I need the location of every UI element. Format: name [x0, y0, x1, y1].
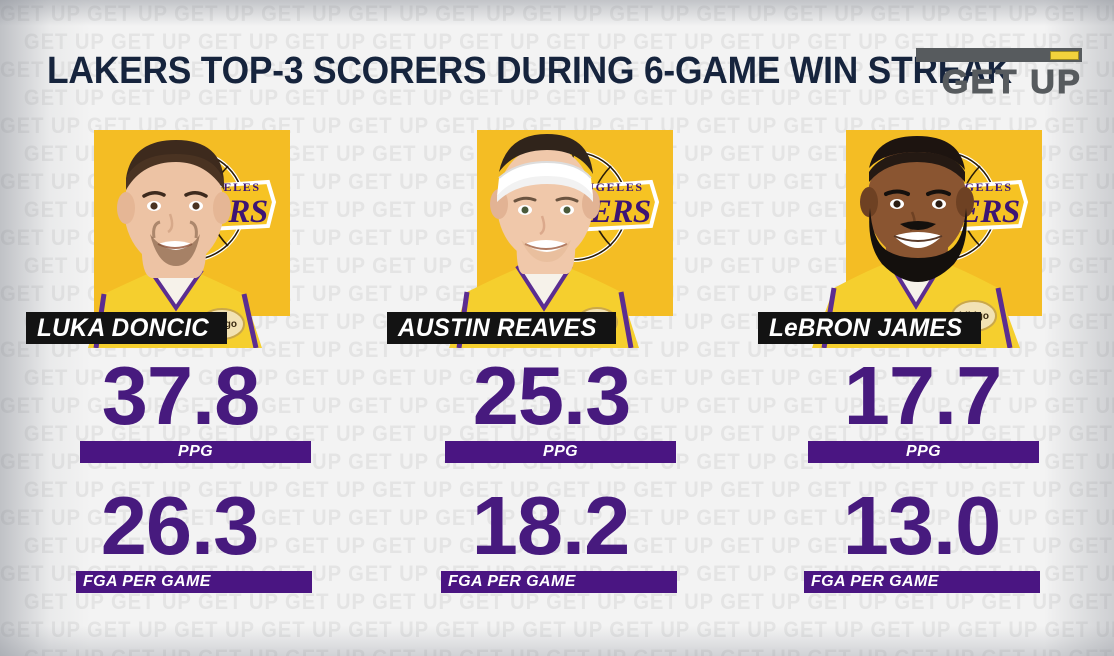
stat-label-fga: FGA PER GAME: [448, 574, 576, 590]
player-columns: LOS ANGELES LAKERS bibigo: [0, 116, 1114, 656]
stat-label-bar-fga: FGA PER GAME: [441, 571, 677, 593]
stat-label-bar-ppg: PPG: [445, 441, 676, 463]
player-column-luka-doncic: LOS ANGELES LAKERS bibigo: [0, 116, 371, 656]
stat-block-ppg: 37.8 PPG: [0, 352, 371, 463]
player-name-plate: LUKA DONCIC: [26, 312, 227, 344]
stat-value-fga: 18.2: [371, 482, 742, 570]
graphic-header: LAKERS TOP-3 SCORERS DURING 6-GAME WIN S…: [0, 44, 1114, 98]
stat-value-ppg: 25.3: [371, 352, 742, 440]
stat-label-bar-ppg: PPG: [80, 441, 311, 463]
stat-value-fga: 26.3: [0, 482, 371, 570]
stat-block-fga: 13.0 FGA PER GAME: [742, 482, 1113, 593]
stat-block-fga: 18.2 FGA PER GAME: [371, 482, 742, 593]
stat-label-fga: FGA PER GAME: [83, 574, 211, 590]
get-up-logo-bar: [916, 48, 1082, 62]
stat-value-ppg: 17.7: [742, 352, 1113, 440]
get-up-logo: GET UP: [916, 48, 1082, 100]
stat-label-ppg: PPG: [906, 444, 941, 460]
stat-block-fga: 26.3 FGA PER GAME: [0, 482, 371, 593]
get-up-logo-accent: [1050, 51, 1079, 60]
player-name-plate: AUSTIN REAVES: [387, 312, 616, 344]
player-name: AUSTIN REAVES: [398, 316, 597, 341]
stat-label-fga: FGA PER GAME: [811, 574, 939, 590]
stat-value-ppg: 37.8: [0, 352, 371, 440]
player-name-plate: LeBRON JAMES: [758, 312, 981, 344]
stat-block-ppg: 25.3 PPG: [371, 352, 742, 463]
stat-label-bar-ppg: PPG: [808, 441, 1039, 463]
player-column-lebron-james: LOS ANGELES LAKERS bibigo: [742, 116, 1113, 656]
stat-label-bar-fga: FGA PER GAME: [804, 571, 1040, 593]
player-name: LeBRON JAMES: [769, 316, 962, 341]
stat-label-ppg: PPG: [178, 444, 213, 460]
stat-label-ppg: PPG: [543, 444, 578, 460]
page-title: LAKERS TOP-3 SCORERS DURING 6-GAME WIN S…: [47, 51, 1012, 91]
broadcast-graphic: GET UP GET UP GET UP GET UP GET UP GET U…: [0, 0, 1114, 656]
player-name: LUKA DONCIC: [37, 316, 209, 341]
stat-block-ppg: 17.7 PPG: [742, 352, 1113, 463]
stat-label-bar-fga: FGA PER GAME: [76, 571, 312, 593]
watermark-row: GET UP GET UP GET UP GET UP GET UP GET U…: [0, 0, 1025, 28]
player-column-austin-reaves: LOS ANGELES LAKERS: [371, 116, 742, 656]
get-up-wordmark: GET UP: [909, 65, 1082, 98]
stat-value-fga: 13.0: [742, 482, 1113, 570]
